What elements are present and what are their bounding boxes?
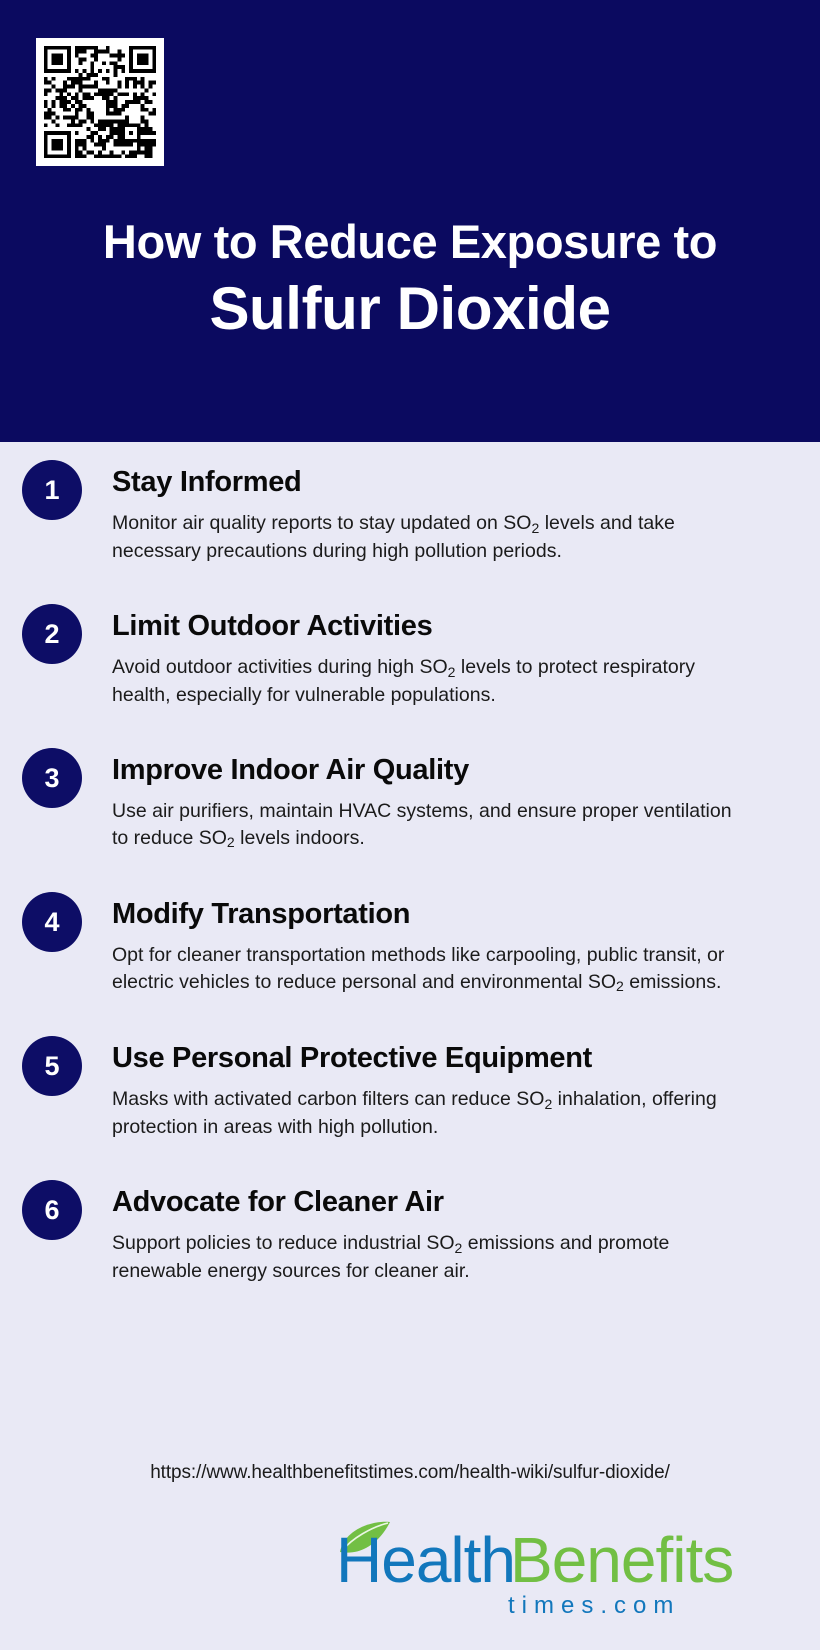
subscript-two: 2 [544, 1096, 552, 1112]
svg-text:Health: Health [336, 1524, 515, 1596]
item-number-badge: 4 [22, 892, 82, 952]
item-title: Limit Outdoor Activities [112, 586, 750, 646]
list-item: 6Advocate for Cleaner AirSupport policie… [0, 1162, 820, 1284]
header-banner: How to Reduce Exposure to Sulfur Dioxide [0, 0, 820, 442]
item-description: Opt for cleaner transportation methods l… [112, 942, 750, 996]
svg-text:times.com: times.com [508, 1592, 680, 1619]
subscript-two: 2 [455, 1240, 463, 1256]
list-item: 2Limit Outdoor ActivitiesAvoid outdoor a… [0, 586, 820, 708]
item-description: Masks with activated carbon filters can … [112, 1086, 750, 1140]
svg-text:Benefits: Benefits [510, 1524, 733, 1596]
item-number-badge: 2 [22, 604, 82, 664]
item-description: Use air purifiers, maintain HVAC systems… [112, 798, 750, 852]
logo-svg: Health Benefits times.com [330, 1500, 750, 1620]
source-url[interactable]: https://www.healthbenefitstimes.com/heal… [0, 1462, 820, 1484]
item-number-badge: 3 [22, 748, 82, 808]
item-description-part2: emissions. [624, 971, 722, 993]
item-title: Improve Indoor Air Quality [112, 730, 750, 790]
item-description-part1: Monitor air quality reports to stay upda… [112, 512, 531, 534]
list-item: 1Stay InformedMonitor air quality report… [0, 442, 820, 564]
page-title: How to Reduce Exposure to Sulfur Dioxide [0, 212, 820, 346]
qr-code-image [36, 38, 164, 166]
item-title: Use Personal Protective Equipment [112, 1018, 750, 1078]
subscript-two: 2 [616, 978, 624, 994]
item-description-part1: Masks with activated carbon filters can … [112, 1088, 544, 1110]
tips-list: 1Stay InformedMonitor air quality report… [0, 442, 820, 1306]
subscript-two: 2 [448, 664, 456, 680]
healthbenefitstimes-logo[interactable]: Health Benefits times.com [330, 1500, 750, 1620]
item-title: Stay Informed [112, 442, 750, 502]
list-item: 3Improve Indoor Air QualityUse air purif… [0, 730, 820, 852]
item-number-badge: 1 [22, 460, 82, 520]
item-description-part1: Support policies to reduce industrial SO [112, 1232, 455, 1254]
item-number-badge: 5 [22, 1036, 82, 1096]
item-description-part2: levels indoors. [235, 827, 365, 849]
item-description: Avoid outdoor activities during high SO2… [112, 654, 750, 708]
list-item: 5Use Personal Protective EquipmentMasks … [0, 1018, 820, 1140]
item-number-badge: 6 [22, 1180, 82, 1240]
item-description: Monitor air quality reports to stay upda… [112, 510, 750, 564]
item-title: Modify Transportation [112, 874, 750, 934]
title-line-1: How to Reduce Exposure to [0, 212, 820, 272]
title-line-2: Sulfur Dioxide [0, 272, 820, 346]
qr-code[interactable] [36, 38, 164, 166]
item-description-part1: Avoid outdoor activities during high SO [112, 656, 448, 678]
subscript-two: 2 [531, 520, 539, 536]
subscript-two: 2 [227, 834, 235, 850]
item-title: Advocate for Cleaner Air [112, 1162, 750, 1222]
item-description-part1: Use air purifiers, maintain HVAC systems… [112, 800, 732, 849]
item-description: Support policies to reduce industrial SO… [112, 1230, 750, 1284]
list-item: 4Modify TransportationOpt for cleaner tr… [0, 874, 820, 996]
